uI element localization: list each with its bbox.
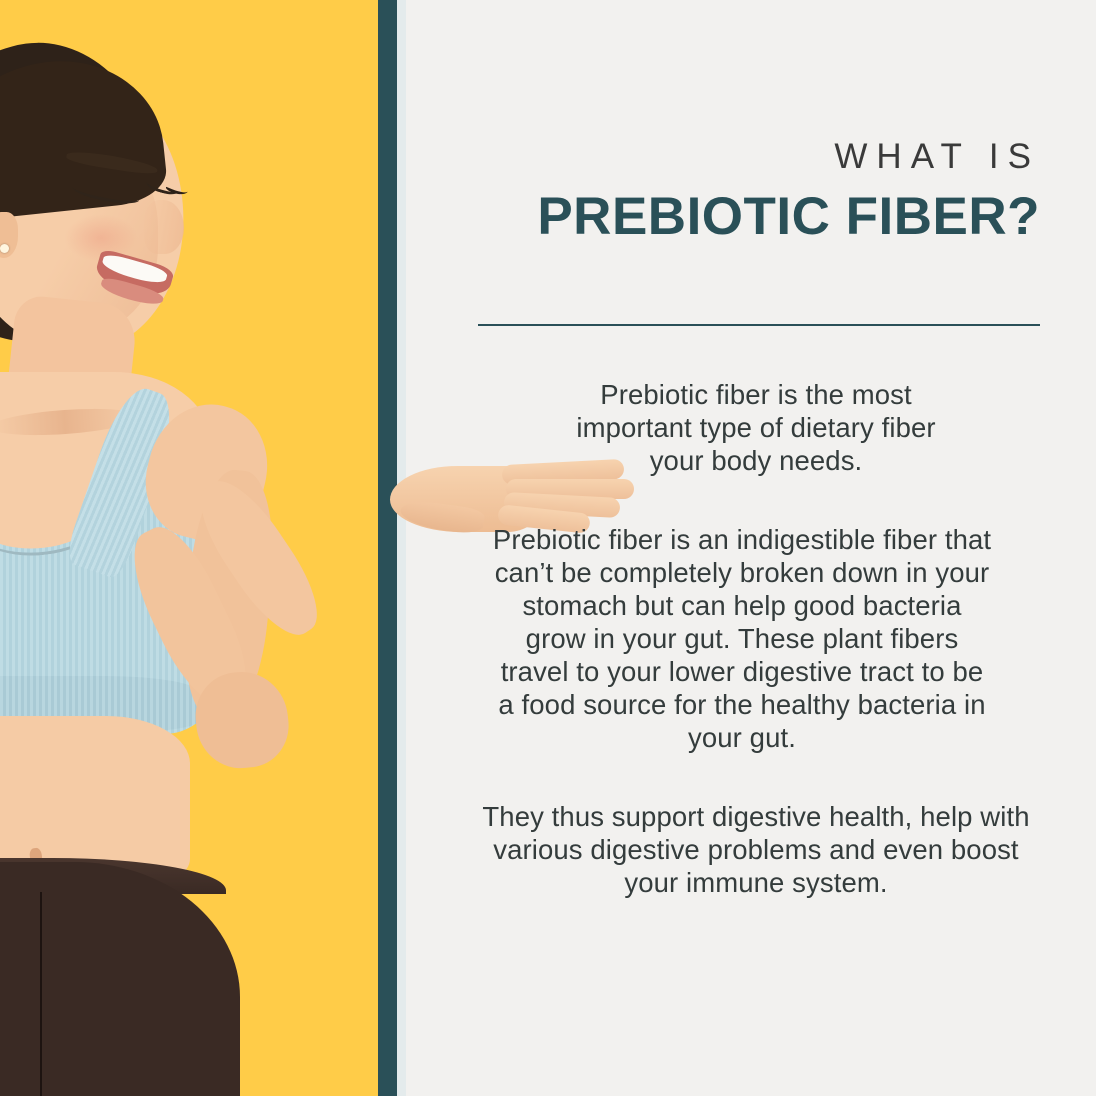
divider-stripe-pale [397, 0, 406, 1096]
model-photo [0, 0, 378, 1096]
paragraph-3: They thus support digestive health, help… [476, 800, 1036, 899]
body-copy: Prebiotic fiber is the most important ty… [466, 378, 1046, 899]
nose [144, 200, 184, 254]
content-panel: WHAT IS PREBIOTIC FIBER? Prebiotic fiber… [406, 0, 1096, 1096]
heading-divider-rule [478, 324, 1040, 326]
kicker-text: WHAT IS [478, 138, 1040, 177]
paragraph-1: Prebiotic fiber is the most important ty… [552, 378, 960, 477]
photo-panel [0, 0, 378, 1096]
page-title: PREBIOTIC FIBER? [478, 187, 1040, 246]
paragraph-2: Prebiotic fiber is an indigestible fiber… [492, 523, 992, 754]
infographic-poster: WHAT IS PREBIOTIC FIBER? Prebiotic fiber… [0, 0, 1096, 1096]
leggings-seam [40, 892, 42, 1096]
hairline [0, 51, 169, 223]
earring-icon [0, 244, 9, 253]
divider-stripe-teal [378, 0, 397, 1096]
leggings [0, 862, 240, 1096]
heading-block: WHAT IS PREBIOTIC FIBER? [478, 138, 1040, 246]
